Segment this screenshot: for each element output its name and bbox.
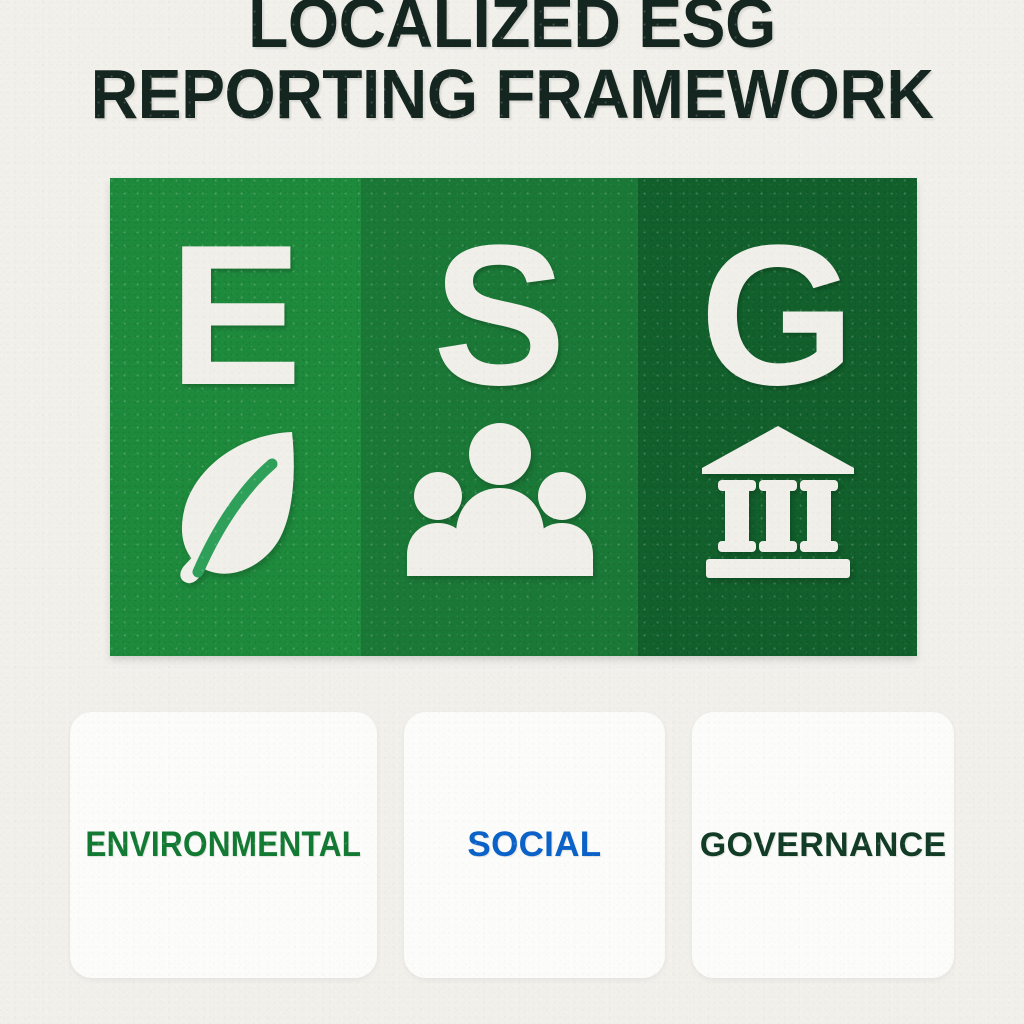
esg-panel-governance[interactable]: G (638, 178, 917, 656)
page-title: LOCALIZED ESG REPORTING FRAMEWORK (31, 0, 994, 131)
pillar-card-environmental[interactable]: ENVIRONMENTAL (70, 712, 377, 978)
esg-panel-social[interactable]: S (361, 178, 638, 656)
page-title-line-2: REPORTING FRAMEWORK (31, 59, 994, 130)
leaf-icon (166, 422, 306, 592)
pillar-card-row: ENVIRONMENTAL SOCIAL GOVERNANCE (70, 712, 954, 978)
bank-building-icon (698, 422, 858, 587)
esg-panel-environmental[interactable]: E (110, 178, 361, 656)
panel-letter-s: S (433, 216, 566, 416)
page-title-line-1: LOCALIZED ESG (31, 0, 994, 59)
people-group-icon (405, 422, 595, 587)
pillar-card-label: ENVIRONMENTAL (85, 825, 361, 865)
pillar-card-label: GOVERNANCE (700, 826, 947, 865)
panel-letter-e: E (169, 216, 302, 416)
panel-letter-g: G (700, 216, 856, 416)
pillar-card-label: SOCIAL (467, 825, 601, 865)
pillar-card-governance[interactable]: GOVERNANCE (692, 712, 954, 978)
esg-banner: E S (110, 178, 917, 656)
pillar-card-social[interactable]: SOCIAL (404, 712, 666, 978)
